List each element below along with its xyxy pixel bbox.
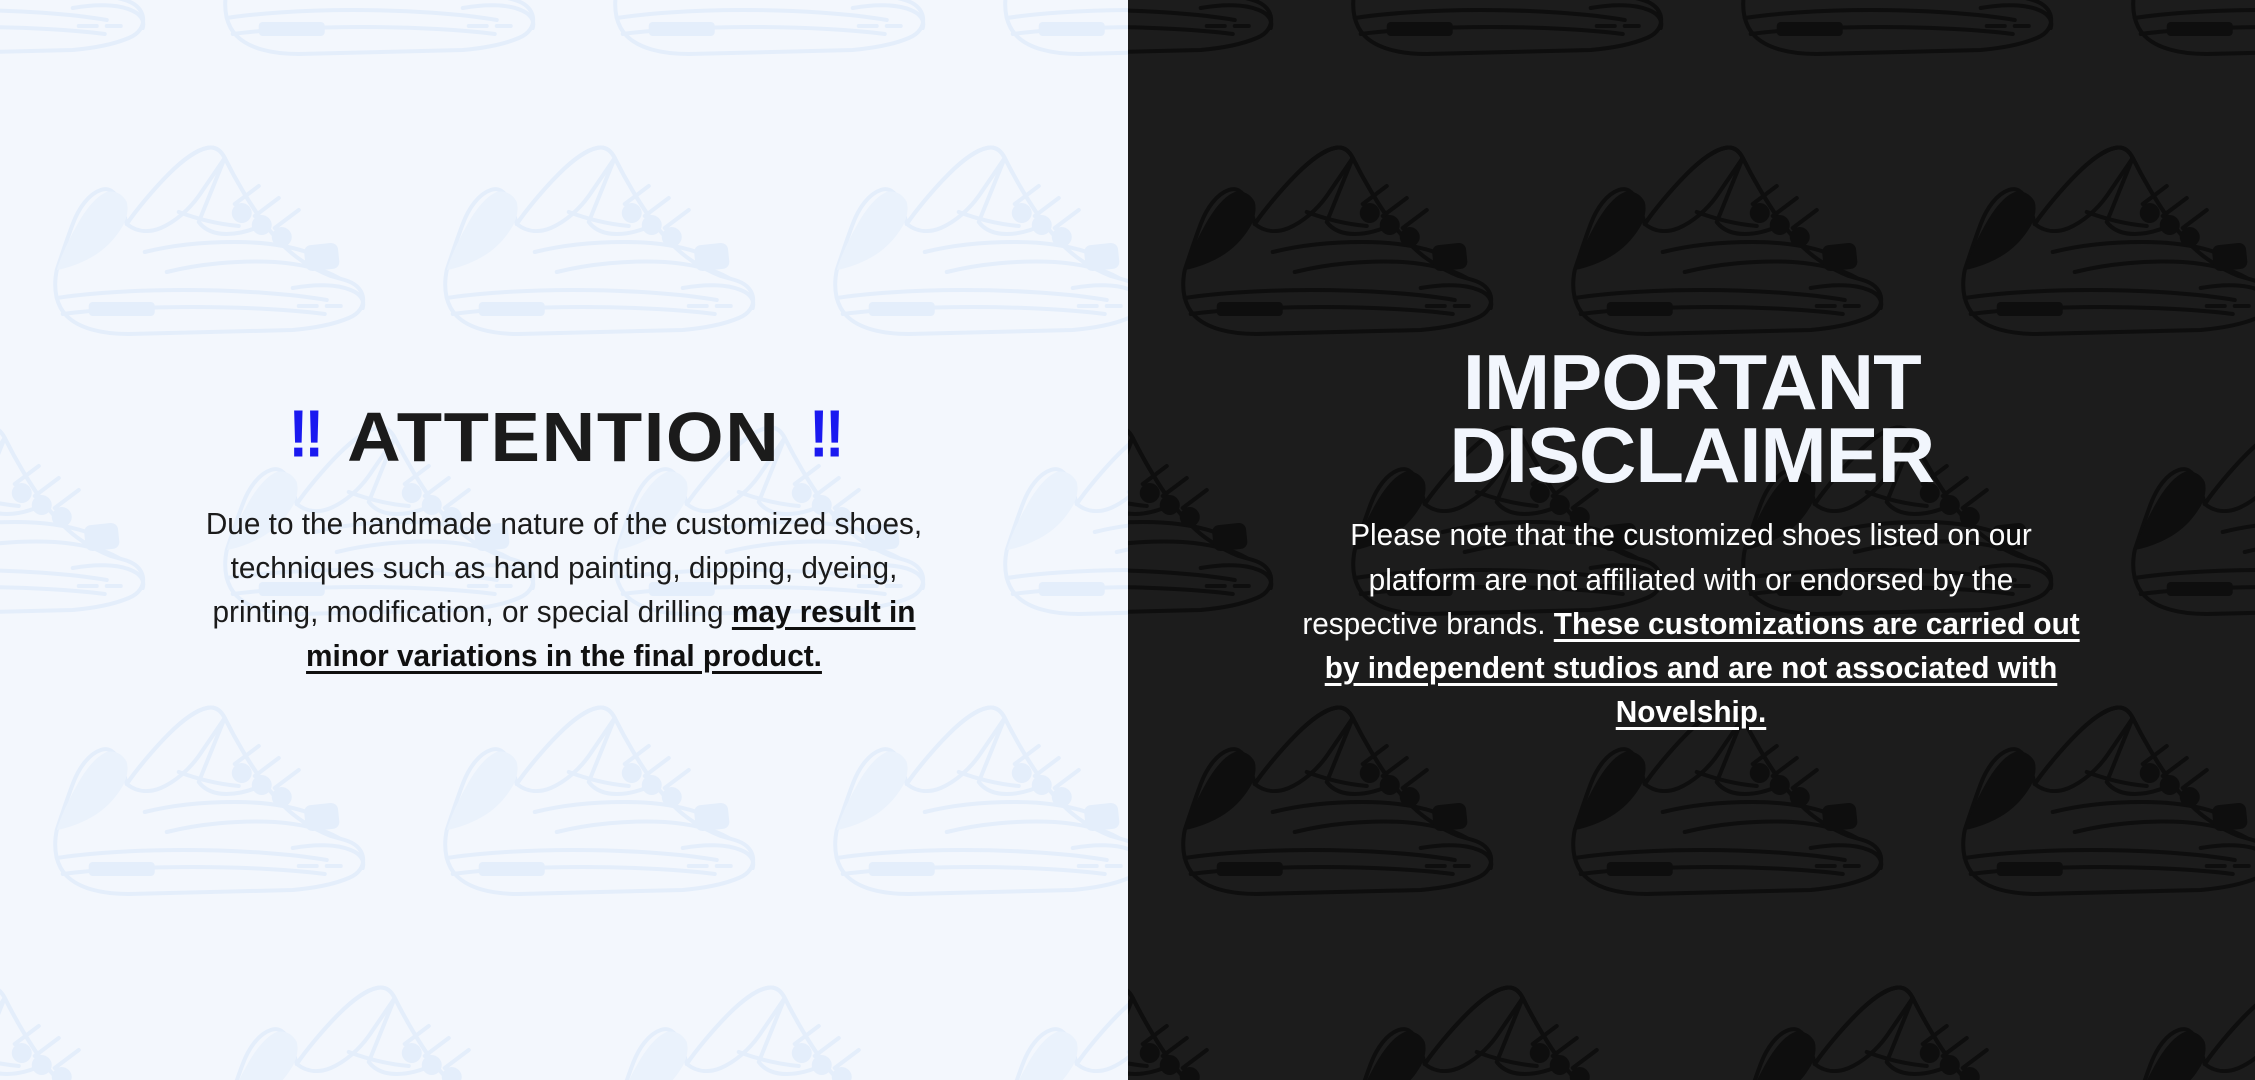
disclaimer-content: IMPORTANT DISCLAIMER Please note that th… xyxy=(1128,346,2255,733)
double-exclamation-left-icon: ‼ xyxy=(289,400,318,467)
attention-body: Due to the handmade nature of the custom… xyxy=(180,502,948,678)
disclaimer-panel: IMPORTANT DISCLAIMER Please note that th… xyxy=(1128,0,2255,1080)
attention-content: ‼ ATTENTION ‼ Due to the handmade nature… xyxy=(0,402,1128,678)
disclaimer-heading: IMPORTANT DISCLAIMER xyxy=(1157,346,2225,491)
attention-heading-word: ATTENTION xyxy=(347,402,780,472)
split-disclaimer-banner: ‼ ATTENTION ‼ Due to the handmade nature… xyxy=(0,0,2255,1080)
attention-panel: ‼ ATTENTION ‼ Due to the handmade nature… xyxy=(0,0,1128,1080)
disclaimer-heading-line1: IMPORTANT xyxy=(1157,346,2225,419)
disclaimer-body: Please note that the customized shoes li… xyxy=(1302,513,2080,733)
disclaimer-heading-line2: DISCLAIMER xyxy=(1157,419,2225,492)
double-exclamation-right-icon: ‼ xyxy=(809,400,838,467)
attention-heading: ‼ ATTENTION ‼ xyxy=(9,402,1119,472)
